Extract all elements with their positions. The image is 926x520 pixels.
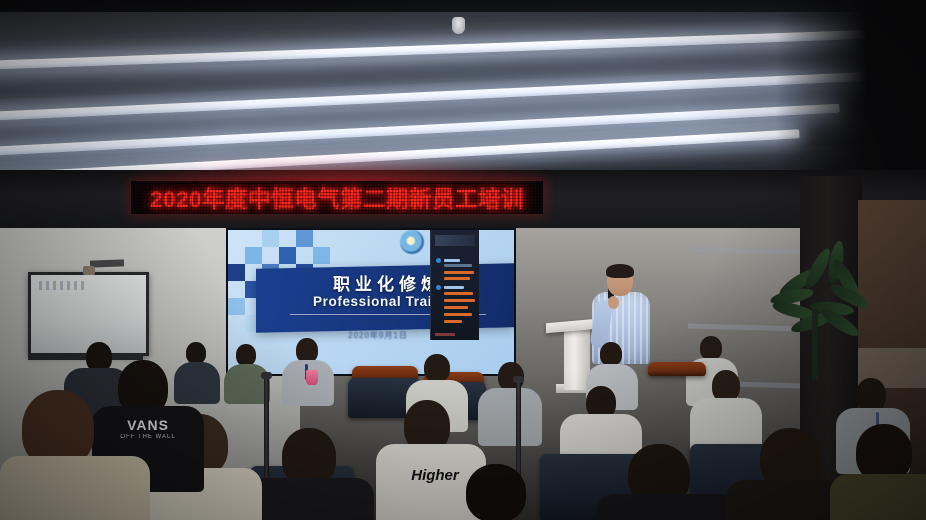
slide-logo-icon [400,230,424,254]
stanchion-top [261,372,272,379]
projector-mount [90,259,124,267]
video-conference-panel[interactable] [430,230,479,340]
smoke-detector-icon [452,17,465,34]
whiteboard-clip [83,266,95,275]
tshirt-vans-line2: OFF THE WALL [104,434,192,441]
drink-cup [306,370,318,385]
stanchion-top [513,376,524,383]
stanchion-post [516,382,521,478]
led-banner-text: 2020年度中恒电气第二期新员工培训 [150,182,524,214]
audience-area: Higher VANS OFF THE WALL [0,336,926,520]
stanchion-post [264,378,269,488]
panel-avatar [436,258,441,263]
presenter-hair [606,264,634,278]
led-banner: 2020年度中恒电气第二期新员工培训 [131,181,543,214]
ceiling-shadow [776,0,926,176]
whiteboard-writing [39,281,85,290]
panel-tabs[interactable] [435,235,475,246]
presenter-hand [608,296,619,309]
ceiling [0,0,926,176]
chair [648,362,706,376]
training-room-photo: 2020年度中恒电气第二期新员工培训 [0,0,926,520]
panel-avatar [436,285,441,290]
tshirt-vans-line1: VANS [104,418,192,433]
